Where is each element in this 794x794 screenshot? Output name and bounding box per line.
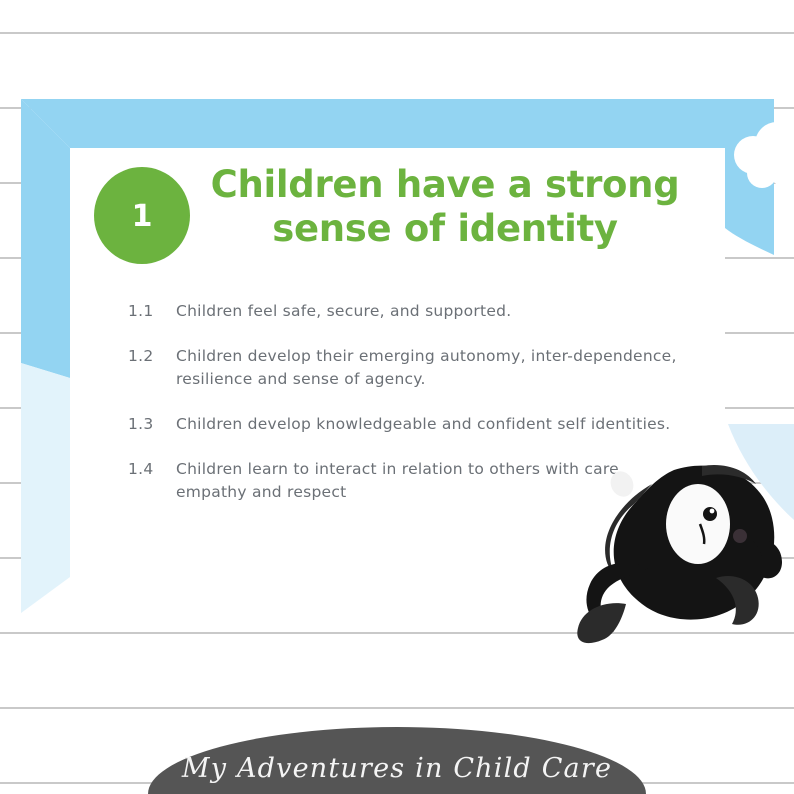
list-item-number: 1.1 xyxy=(128,300,176,323)
footer-banner-text: My Adventures in Child Care xyxy=(148,753,646,784)
page-title-line-2: sense of identity xyxy=(205,207,685,251)
orca-eye-patch xyxy=(666,484,730,564)
page-title: Children have a strong sense of identity xyxy=(205,163,685,250)
orca-pupil-glint xyxy=(710,509,715,514)
list-item-number: 1.3 xyxy=(128,413,176,436)
orca-cheek-dot xyxy=(733,529,747,543)
slide-canvas: 1 Children have a strong sense of identi… xyxy=(0,0,794,794)
orca-blowhole-spot xyxy=(607,468,638,501)
outcome-number-badge-text: 1 xyxy=(132,202,153,232)
outcome-number-badge: 1 xyxy=(94,167,190,264)
list-item-number: 1.4 xyxy=(128,458,176,481)
list-item-text: Children feel safe, secure, and supporte… xyxy=(176,300,688,323)
orca-pupil xyxy=(703,507,717,521)
list-item: 1.2 Children develop their emerging auto… xyxy=(128,345,688,391)
orca-whale-icon xyxy=(556,418,794,644)
list-item-text: Children develop their emerging autonomy… xyxy=(176,345,688,391)
ribbon-left-tail xyxy=(21,363,70,613)
ribbon-top-band xyxy=(21,99,774,148)
ribbon-left-strip xyxy=(21,99,70,378)
list-item-number: 1.2 xyxy=(128,345,176,368)
page-title-line-1: Children have a strong xyxy=(205,163,685,207)
list-item: 1.1 Children feel safe, secure, and supp… xyxy=(128,300,688,323)
orca-tail-fluke xyxy=(577,603,626,643)
